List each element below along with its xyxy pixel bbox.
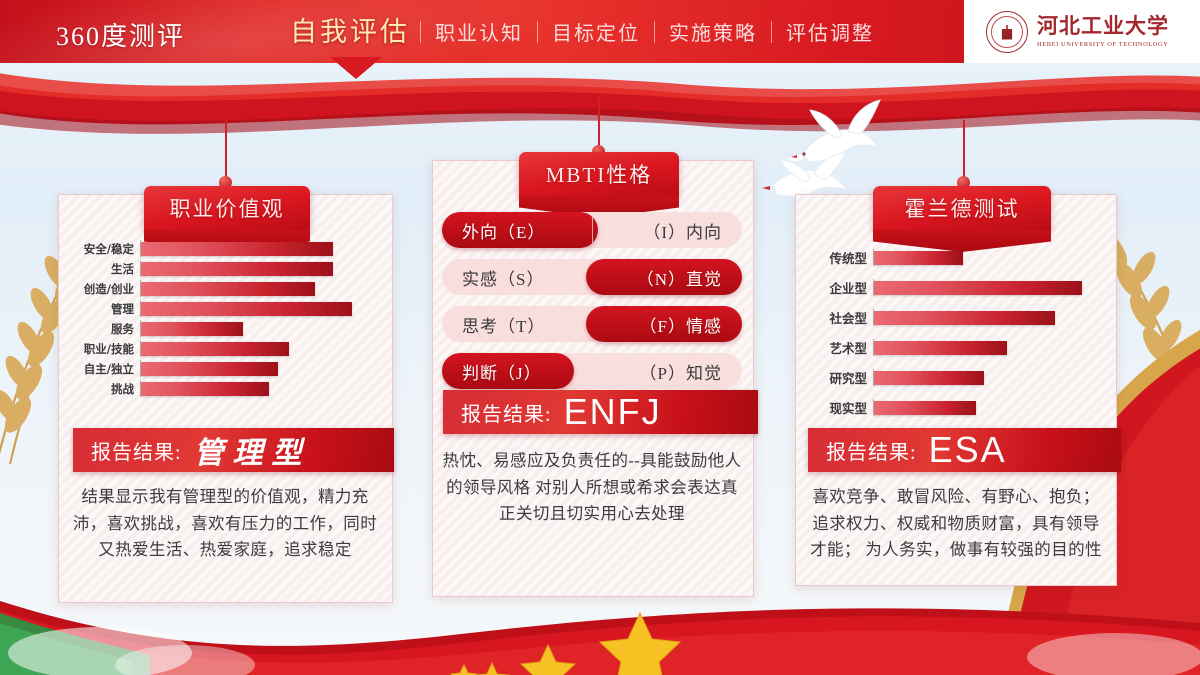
bar-fill <box>141 342 289 356</box>
bar-fill <box>141 382 269 396</box>
mbti-option-p[interactable]: （P）知觉 <box>640 359 722 384</box>
banner-label-mbti: MBTI性格 <box>546 159 653 189</box>
banner-label-holland: 霍兰德测试 <box>905 193 1020 223</box>
card-hanger-line-holland <box>963 120 965 180</box>
mbti-option-n[interactable]: （N）直觉 <box>637 265 722 290</box>
page-title: 360度测评 <box>56 16 185 53</box>
bar-track <box>873 339 1105 356</box>
bar-label: 安全/稳定 <box>66 241 140 257</box>
description-mbti: 热忱、易感应及负责任的--具能鼓励他人的领导风格 对别人所想或希求会表达真正关切… <box>442 448 742 528</box>
tab-self-assessment[interactable]: 自我评估 <box>284 10 420 49</box>
bar-row: 艺术型 <box>805 338 1105 357</box>
mbti-option-t[interactable]: 思考（T） <box>462 312 545 337</box>
bar-track <box>873 309 1105 326</box>
card-hanger-line-mbti <box>598 96 600 148</box>
bar-fill <box>141 302 352 316</box>
result-label: 报告结果: <box>91 436 182 465</box>
mbti-option-s[interactable]: 实感（S） <box>462 265 544 290</box>
bar-track <box>873 249 1105 266</box>
bar-label: 服务 <box>66 321 140 337</box>
mbti-pair-divider <box>592 217 593 243</box>
bar-track <box>873 369 1105 386</box>
bar-row: 生活 <box>66 260 381 277</box>
mbti-pill-group: 外向（E） （I）内向 实感（S） （N）直觉 思考（T） （F）情感 判断（J… <box>442 212 742 400</box>
bar-row: 挑战 <box>66 380 381 397</box>
bar-fill <box>141 362 278 376</box>
nav-tabs[interactable]: 自我评估 职业认知 目标定位 实施策略 评估调整 <box>284 12 888 51</box>
bar-fill <box>141 282 315 296</box>
bar-fill <box>874 251 963 265</box>
bar-row: 企业型 <box>805 278 1105 297</box>
tab-goal-positioning[interactable]: 目标定位 <box>538 17 654 46</box>
result-bar-mbti: 报告结果: ENFJ <box>443 390 758 434</box>
bar-fill <box>874 341 1007 355</box>
mbti-pair-tf[interactable]: 思考（T） （F）情感 <box>442 306 742 342</box>
tab-evaluation-adjustment[interactable]: 评估调整 <box>772 17 888 46</box>
bar-track <box>140 380 381 397</box>
bar-label: 传统型 <box>805 248 873 267</box>
bar-row: 安全/稳定 <box>66 240 381 257</box>
bar-label: 生活 <box>66 261 140 277</box>
bar-label: 管理 <box>66 301 140 317</box>
bar-track <box>873 399 1105 416</box>
tab-career-awareness[interactable]: 职业认知 <box>421 17 537 46</box>
bar-track <box>140 320 381 337</box>
bar-track <box>140 240 381 257</box>
bar-label: 创造/创业 <box>66 281 140 297</box>
chart-career-values: 安全/稳定 生活 创造/创业 管理 服务 职业/技能 自主/独立 挑战 <box>66 240 381 400</box>
result-bar-career-values: 报告结果: 管理型 <box>73 428 394 472</box>
bar-fill <box>874 281 1082 295</box>
bar-row: 服务 <box>66 320 381 337</box>
university-name-en: HEBEI UNIVERSITY OF TECHNOLOGY <box>1037 41 1169 48</box>
result-value-career-values: 管理型 <box>194 428 311 472</box>
result-value-holland: ESA <box>929 432 1007 468</box>
bar-label: 自主/独立 <box>66 361 140 377</box>
description-holland: 喜欢竞争、敢冒风险、有野心、抱负；追求权力、权威和物质财富，具有领导才能； 为人… <box>806 484 1106 564</box>
mbti-option-j[interactable]: 判断（J） <box>462 359 542 384</box>
bar-label: 研究型 <box>805 368 873 387</box>
bar-label: 社会型 <box>805 308 873 327</box>
mbti-pair-sn[interactable]: 实感（S） （N）直觉 <box>442 259 742 295</box>
result-bar-holland: 报告结果: ESA <box>808 428 1121 472</box>
active-tab-arrow-icon <box>330 57 382 79</box>
bar-row: 管理 <box>66 300 381 317</box>
bar-row: 传统型 <box>805 248 1105 267</box>
bar-label: 职业/技能 <box>66 341 140 357</box>
red-ribbon-decoration <box>0 62 1200 140</box>
tab-implementation-strategy[interactable]: 实施策略 <box>655 17 771 46</box>
result-value-mbti: ENFJ <box>564 394 662 430</box>
card-hanger-line-values <box>225 120 227 180</box>
bar-fill <box>141 242 333 256</box>
bar-row: 自主/独立 <box>66 360 381 377</box>
bar-fill <box>141 322 243 336</box>
banner-career-values: 职业价值观 <box>144 186 310 230</box>
dove-icon-large <box>782 96 890 182</box>
bar-track <box>140 360 381 377</box>
banner-mbti: MBTI性格 <box>519 152 679 196</box>
bar-track <box>140 260 381 277</box>
result-label: 报告结果: <box>826 436 917 465</box>
bar-fill <box>874 371 984 385</box>
mbti-pair-jp[interactable]: 判断（J） （P）知觉 <box>442 353 742 389</box>
bar-label: 现实型 <box>805 398 873 417</box>
result-label: 报告结果: <box>461 398 552 427</box>
bar-label: 企业型 <box>805 278 873 297</box>
mbti-pair-ei[interactable]: 外向（E） （I）内向 <box>442 212 742 248</box>
bar-row: 职业/技能 <box>66 340 381 357</box>
bar-row: 研究型 <box>805 368 1105 387</box>
university-logo: 河北工业大学 HEBEI UNIVERSITY OF TECHNOLOGY <box>964 0 1200 63</box>
bar-fill <box>874 311 1055 325</box>
bar-row: 社会型 <box>805 308 1105 327</box>
bar-fill <box>874 401 976 415</box>
mbti-option-e[interactable]: 外向（E） <box>462 218 545 243</box>
top-header-bar: 360度测评 自我评估 职业认知 目标定位 实施策略 评估调整 河北工业大学 H… <box>0 0 1200 63</box>
mbti-option-i[interactable]: （I）内向 <box>643 218 722 243</box>
bar-track <box>140 280 381 297</box>
mbti-option-f[interactable]: （F）情感 <box>640 312 722 337</box>
slide-canvas: 360度测评 自我评估 职业认知 目标定位 实施策略 评估调整 河北工业大学 H… <box>0 0 1200 675</box>
bar-label: 艺术型 <box>805 338 873 357</box>
banner-holland: 霍兰德测试 <box>873 186 1051 230</box>
chart-holland: 传统型 企业型 社会型 艺术型 研究型 现实型 <box>805 248 1105 428</box>
bar-label: 挑战 <box>66 381 140 397</box>
bar-fill <box>141 262 333 276</box>
bar-track <box>140 300 381 317</box>
description-career-values: 结果显示我有管理型的价值观，精力充沛，喜欢挑战，喜欢有压力的工作，同时又热爱生活… <box>70 484 380 564</box>
bar-track <box>873 279 1105 296</box>
bar-row: 现实型 <box>805 398 1105 417</box>
bar-row: 创造/创业 <box>66 280 381 297</box>
banner-label-career-values: 职业价值观 <box>170 193 285 223</box>
university-name-cn: 河北工业大学 <box>1037 16 1169 37</box>
bar-track <box>140 340 381 357</box>
university-seal-icon <box>986 11 1028 53</box>
